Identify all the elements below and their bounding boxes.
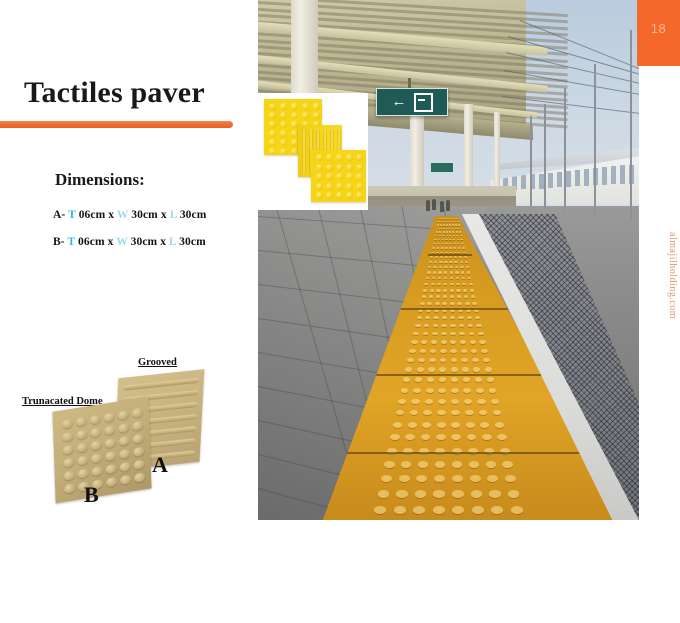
yellow-tile-dome <box>326 164 333 171</box>
tactile-dome <box>394 506 406 514</box>
tile-dome <box>62 432 73 443</box>
tactile-dome <box>439 367 446 371</box>
station-window <box>548 173 553 188</box>
tactile-dome <box>422 295 426 298</box>
slide-canvas: 18 Tactiles paver Dimensions: A- T 06cm … <box>0 0 680 623</box>
tactile-dome <box>437 283 441 286</box>
yellow-tile-dome <box>326 154 333 161</box>
tactile-dome <box>502 461 512 468</box>
tactile-dome <box>439 231 441 232</box>
yellow-tile-dome <box>356 183 363 190</box>
tactile-dome <box>471 490 483 497</box>
tactile-dome <box>434 475 445 482</box>
tactile-dome <box>451 218 453 219</box>
tactile-dome <box>398 399 406 404</box>
tactile-dome <box>424 283 428 286</box>
tactile-dome <box>423 410 432 415</box>
tactile-dome <box>420 349 426 353</box>
yellow-tile-dome <box>316 192 323 199</box>
yellow-tile-dome <box>346 164 353 171</box>
tactile-dome <box>465 302 470 305</box>
tactile-dome <box>452 490 464 497</box>
yellow-tile-dome <box>269 130 276 137</box>
tactile-dome <box>485 367 492 371</box>
tactile-dome <box>378 490 390 497</box>
dimension-row-a-thickness-value: 06cm x <box>79 209 114 221</box>
tile-dome <box>118 423 129 434</box>
tactile-dome <box>470 289 474 292</box>
tactile-dome <box>425 316 430 319</box>
tactile-dome <box>423 332 429 336</box>
tactile-dome <box>451 434 461 440</box>
tactile-dome <box>468 277 472 279</box>
tactile-dome <box>437 228 439 229</box>
tactile-dome <box>436 231 438 232</box>
tactile-dome <box>452 224 454 225</box>
tactile-dome <box>481 349 487 353</box>
tactile-dome <box>444 261 447 263</box>
tactile-dome <box>477 399 485 404</box>
tactile-dome <box>432 332 438 336</box>
tactile-dome <box>469 332 475 336</box>
tactile-dome <box>505 475 516 482</box>
tactile-dome <box>486 461 496 468</box>
tactile-dome <box>411 399 419 404</box>
tactile-dome <box>410 410 419 415</box>
page-number-badge: 18 <box>637 0 680 66</box>
station-window <box>575 170 580 187</box>
tactile-dome <box>438 388 446 393</box>
tactile-dome <box>511 506 523 514</box>
tile-dome <box>120 474 131 485</box>
figure-letter-b: B <box>84 482 99 508</box>
tactile-dome <box>433 271 437 273</box>
tactile-dome <box>454 256 457 258</box>
page-number: 18 <box>637 21 680 36</box>
tactile-dome <box>413 506 425 514</box>
tactile-dome <box>440 256 443 258</box>
yellow-tile-dome <box>269 103 276 110</box>
tactile-dome <box>449 266 452 268</box>
tactile-dome <box>458 228 460 229</box>
tile-dome <box>119 449 130 460</box>
tactile-dome <box>451 399 459 404</box>
tactile-dome <box>464 295 468 298</box>
catenary-pole <box>630 30 632 220</box>
tactile-dome <box>449 228 451 229</box>
tactile-dome <box>489 490 501 497</box>
tile-dome <box>62 419 73 430</box>
tactile-dome <box>417 367 424 371</box>
tactile-dome <box>458 316 463 319</box>
tactile-dome <box>495 422 504 428</box>
tile-dome <box>76 429 87 440</box>
tactile-dome <box>444 218 446 219</box>
tactile-dome <box>401 388 409 393</box>
dimension-row-a: A- T 06cm x W 30cm x L 30cm <box>53 209 206 221</box>
tactile-dome <box>453 247 456 249</box>
tactile-dome <box>438 221 440 222</box>
tactile-dome <box>487 377 494 382</box>
tactile-dome <box>427 377 434 382</box>
tile-dome <box>77 442 88 453</box>
figure-letter-a: A <box>152 452 168 478</box>
yellow-dome-tile-2 <box>311 150 366 202</box>
dimension-row-b-length-key: L <box>169 236 176 248</box>
tactile-dome <box>443 224 445 225</box>
tactile-dome <box>449 247 452 249</box>
tactile-dome <box>449 218 451 219</box>
tile-dome <box>104 412 115 423</box>
tactile-dome <box>466 266 469 268</box>
tactile-dome <box>399 475 410 482</box>
yellow-tile-dome <box>302 103 309 110</box>
tactile-dome <box>451 358 458 362</box>
tactile-dome <box>459 231 461 232</box>
tactile-dome <box>461 349 467 353</box>
yellow-tile-dome <box>316 173 323 180</box>
tactile-tile-seam <box>344 374 568 376</box>
tactile-dome <box>437 243 440 245</box>
tactile-dome <box>436 289 440 292</box>
tactile-dome <box>439 266 442 268</box>
tactile-dome <box>433 266 436 268</box>
tactile-dome <box>452 475 463 482</box>
tactile-dome <box>430 349 436 353</box>
title-underline-rule <box>0 121 233 128</box>
tactile-dome <box>451 422 460 428</box>
tactile-dome <box>450 349 456 353</box>
tactile-dome <box>415 377 422 382</box>
tactile-dome <box>374 506 386 514</box>
dimension-row-b: B- T 06cm x W 30cm x L 30cm <box>53 236 206 248</box>
paving-joint <box>258 250 443 268</box>
tactile-dome <box>441 218 443 219</box>
yellow-tile-dome <box>316 164 323 171</box>
product-tile-inset <box>258 93 368 210</box>
tactile-tile-seam <box>386 308 520 310</box>
tactile-dome <box>442 239 444 241</box>
tactile-dome <box>384 461 394 468</box>
tactile-dome <box>433 324 438 327</box>
tactile-dome <box>444 266 447 268</box>
tile-dome <box>105 438 116 449</box>
tactile-dome <box>446 221 448 222</box>
tactile-tile-seam <box>302 452 616 454</box>
tactile-dome <box>430 256 433 258</box>
tactile-dome <box>432 247 435 249</box>
yellow-tile-dome <box>346 154 353 161</box>
tactile-dome <box>457 295 461 298</box>
yellow-tile-dome <box>346 192 353 199</box>
tactile-dome <box>446 218 448 219</box>
tile-dome <box>64 470 75 481</box>
tactile-dome <box>437 247 440 249</box>
tactile-dome <box>460 340 466 344</box>
tactile-dome <box>443 295 447 298</box>
tactile-dome <box>427 271 431 273</box>
tactile-dome <box>451 377 458 382</box>
tactile-dome <box>446 228 448 229</box>
tactile-dome <box>451 367 458 371</box>
tactile-dome <box>450 340 456 344</box>
tactile-dome <box>446 224 448 225</box>
tactile-dome <box>470 475 481 482</box>
tactile-dome <box>426 388 434 393</box>
station-window <box>557 172 562 188</box>
exit-sign: ← <box>376 88 448 116</box>
yellow-tile-dome <box>356 154 363 161</box>
tactile-dome <box>455 224 457 225</box>
tactile-dome <box>442 316 447 319</box>
tactile-dome <box>449 239 451 241</box>
tactile-dome <box>437 224 439 225</box>
tactile-dome <box>439 377 446 382</box>
tactile-dome <box>443 283 447 286</box>
tactile-dome <box>483 358 490 362</box>
dimension-row-a-length-value: 30cm <box>180 209 207 221</box>
tactile-dome <box>449 256 452 258</box>
station-window <box>602 167 607 185</box>
tactile-dome <box>446 231 448 232</box>
tactile-dome <box>443 228 445 229</box>
tactile-dome <box>472 358 479 362</box>
tactile-dome <box>471 349 477 353</box>
tactile-dome <box>479 340 485 344</box>
tactile-dome <box>441 340 447 344</box>
paving-joint <box>258 216 458 231</box>
person-figure <box>426 200 430 211</box>
tactile-dome <box>452 231 454 232</box>
dimension-row-b-length-value: 30cm <box>179 236 206 248</box>
tactile-dome <box>449 243 452 245</box>
tactile-dome <box>459 332 465 336</box>
tactile-dome <box>438 239 440 241</box>
tactile-dome <box>429 261 432 263</box>
tactile-dome <box>457 302 462 305</box>
dimension-row-b-width-value: 30cm x <box>131 236 166 248</box>
tactile-dome <box>437 422 446 428</box>
tactile-dome <box>420 302 425 305</box>
tactile-dome <box>455 271 459 273</box>
page-title: Tactiles paver <box>24 76 205 110</box>
tactile-dome <box>450 295 454 298</box>
tactile-dome <box>450 277 454 279</box>
tile-dome <box>120 462 131 473</box>
tactile-dome <box>456 231 458 232</box>
yellow-tile-dome <box>291 103 298 110</box>
tactile-dome <box>440 349 446 353</box>
tactile-dome <box>434 239 436 241</box>
tactile-dome <box>442 302 447 305</box>
tactile-dome <box>441 221 443 222</box>
tactile-dome <box>458 247 461 249</box>
tactile-dome <box>470 340 476 344</box>
dimension-row-b-tag: B- <box>53 236 65 248</box>
tactile-dome <box>463 289 467 292</box>
tactile-dome <box>443 289 447 292</box>
tactile-dome <box>465 410 474 415</box>
dimension-row-a-tag: A- <box>53 209 65 221</box>
yellow-tile-dome <box>269 148 276 155</box>
tactile-dome <box>475 316 480 319</box>
tactile-dome <box>416 475 427 482</box>
left-arrow-icon: ← <box>392 95 407 110</box>
tactile-dome <box>433 243 436 245</box>
tactile-dome <box>475 377 482 382</box>
tile-dome <box>77 455 88 466</box>
tile-dome <box>78 468 89 479</box>
tactile-dome <box>455 228 457 229</box>
tactile-dome <box>423 289 427 292</box>
tactile-dome <box>489 388 497 393</box>
tile-dome <box>118 410 129 421</box>
yellow-tile-dome <box>336 192 343 199</box>
tactile-dome <box>429 295 433 298</box>
tactile-dome <box>405 434 415 440</box>
tactile-dome <box>441 324 446 327</box>
yellow-tile-groove <box>302 129 306 173</box>
yellow-tile-dome <box>346 173 353 180</box>
catenary-pole <box>564 88 566 210</box>
tactile-dome <box>463 377 470 382</box>
tile-dome <box>133 446 144 457</box>
tactile-dome <box>413 332 419 336</box>
yellow-tile-dome <box>326 192 333 199</box>
tactile-dome <box>472 506 484 514</box>
tactile-dome <box>442 235 444 236</box>
tile-dome <box>90 427 101 438</box>
tactile-dome <box>443 231 445 232</box>
tactile-dome <box>480 422 489 428</box>
tactile-dome <box>438 399 446 404</box>
tactile-dome <box>436 295 440 298</box>
tile-dome <box>76 416 87 427</box>
tactile-dome <box>466 422 475 428</box>
tactile-dome <box>452 228 454 229</box>
tactile-dome <box>446 235 448 236</box>
tactile-dome <box>432 277 436 279</box>
person-figure <box>440 201 444 212</box>
tactile-dome <box>461 243 464 245</box>
tile-dome <box>105 451 116 462</box>
tactile-dome <box>433 490 445 497</box>
tactile-dome <box>430 289 434 292</box>
tactile-dome <box>452 461 462 468</box>
tactile-dome <box>478 332 484 336</box>
yellow-tile-dome <box>336 183 343 190</box>
tactile-dome <box>417 316 422 319</box>
tactile-dome <box>460 266 463 268</box>
tile-dome <box>63 457 74 468</box>
dimension-row-b-thickness-key: T <box>67 236 75 248</box>
tactile-dome <box>438 271 442 273</box>
tactile-dome <box>464 399 472 404</box>
truncated-dome-tile-sample <box>52 397 151 504</box>
tactile-dome <box>459 324 464 327</box>
yellow-tile-dome <box>269 121 276 128</box>
tactile-dome <box>453 235 455 236</box>
tactile-dome <box>449 221 451 222</box>
tactile-dome <box>408 422 417 428</box>
tile-dome <box>64 483 75 494</box>
tactile-dome <box>440 224 442 225</box>
tile-dome <box>91 440 102 451</box>
tactile-dome <box>467 271 471 273</box>
tactile-dome <box>479 410 488 415</box>
tactile-dome <box>456 218 458 219</box>
tactile-dome <box>439 235 441 236</box>
tactile-dome <box>444 277 448 279</box>
tactile-dome <box>401 461 411 468</box>
tactile-dome <box>426 277 430 279</box>
dimension-row-a-length-key: L <box>170 209 177 221</box>
tile-dome <box>134 459 145 470</box>
tile-dome <box>132 408 143 419</box>
tactile-dome <box>433 506 445 514</box>
tile-dome <box>63 444 74 455</box>
yellow-tile-dome <box>356 192 363 199</box>
yellow-tile-dome <box>336 173 343 180</box>
tactile-dome <box>437 410 446 415</box>
tile-dome <box>90 414 101 425</box>
tactile-dome <box>454 218 456 219</box>
tactile-dome <box>441 332 447 336</box>
secondary-exit-sign <box>431 163 453 172</box>
catenary-pole <box>594 64 596 214</box>
tactile-dome <box>450 316 455 319</box>
tactile-dome <box>497 434 507 440</box>
tactile-dome <box>418 461 428 468</box>
tactile-dome <box>445 247 448 249</box>
tactile-dome <box>445 239 447 241</box>
tactile-dome <box>476 388 484 393</box>
tactile-dome <box>450 289 454 292</box>
tactile-dome <box>452 506 464 514</box>
tactile-dome <box>508 490 520 497</box>
yellow-tile-dome <box>291 148 298 155</box>
tactile-dome <box>453 243 456 245</box>
tile-sample-figure: Grooved Trunacated Dome A B <box>18 352 243 512</box>
tactile-dome <box>459 256 462 258</box>
tactile-dome <box>435 256 438 258</box>
tactile-dome <box>460 261 463 263</box>
tactile-dome <box>441 247 444 249</box>
yellow-tile-dome <box>326 173 333 180</box>
tactile-dome <box>381 475 392 482</box>
tile-dome <box>119 436 130 447</box>
yellow-tile-dome <box>280 139 287 146</box>
tactile-dome <box>439 261 442 263</box>
tactile-dome <box>493 410 502 415</box>
tactile-dome <box>451 410 460 415</box>
tactile-dome <box>491 399 499 404</box>
station-window <box>584 169 589 186</box>
exit-door-icon <box>414 93 433 112</box>
tactile-dome <box>461 358 468 362</box>
tactile-dome <box>427 302 432 305</box>
tactile-dome <box>487 475 498 482</box>
tactile-dome <box>450 332 456 336</box>
tactile-dome <box>390 434 400 440</box>
tactile-dome <box>436 434 446 440</box>
tactile-dome <box>435 235 437 236</box>
yellow-tile-dome <box>280 148 287 155</box>
tactile-dome <box>425 399 433 404</box>
tactile-dome <box>456 283 460 286</box>
person-figure <box>432 199 436 210</box>
tactile-dome <box>456 277 460 279</box>
